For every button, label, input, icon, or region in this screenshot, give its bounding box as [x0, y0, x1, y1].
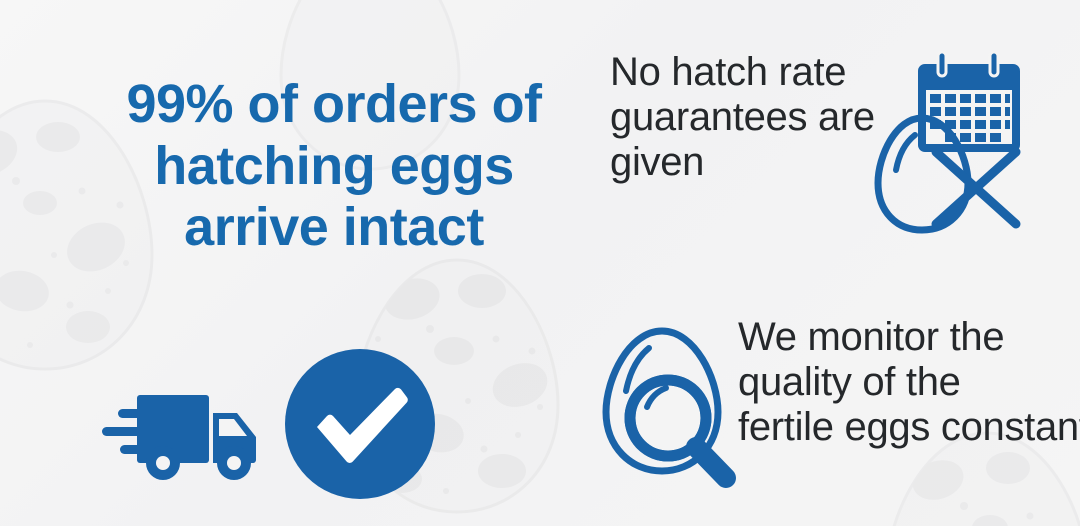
monitor-line-2: quality of the [738, 360, 1080, 405]
headline-line-2: hatching eggs [84, 136, 584, 198]
x-mark-icon [936, 152, 1016, 224]
headline: 99% of orders of hatching eggs arrive in… [84, 74, 584, 259]
calendar-egg-x-icon [874, 48, 1022, 240]
check-circle-icon [281, 345, 439, 503]
headline-line-1: 99% of orders of [84, 74, 584, 136]
no-guarantee-text: No hatch rate guarantees are given [610, 50, 910, 184]
no-guarantee-line-2: guarantees are [610, 95, 910, 140]
infographic-slide: 99% of orders of hatching eggs arrive in… [0, 0, 1080, 526]
monitor-line-1: We monitor the [738, 315, 1080, 360]
monitor-text: We monitor the quality of the fertile eg… [738, 315, 1080, 449]
no-guarantee-line-1: No hatch rate [610, 50, 910, 95]
egg-magnifier-icon [600, 325, 740, 491]
calendar-icon [918, 52, 1020, 152]
headline-line-3: arrive intact [84, 197, 584, 259]
monitor-line-3: fertile eggs constantly [738, 405, 1080, 450]
delivery-truck-icon [100, 383, 276, 481]
no-guarantee-line-3: given [610, 140, 910, 185]
